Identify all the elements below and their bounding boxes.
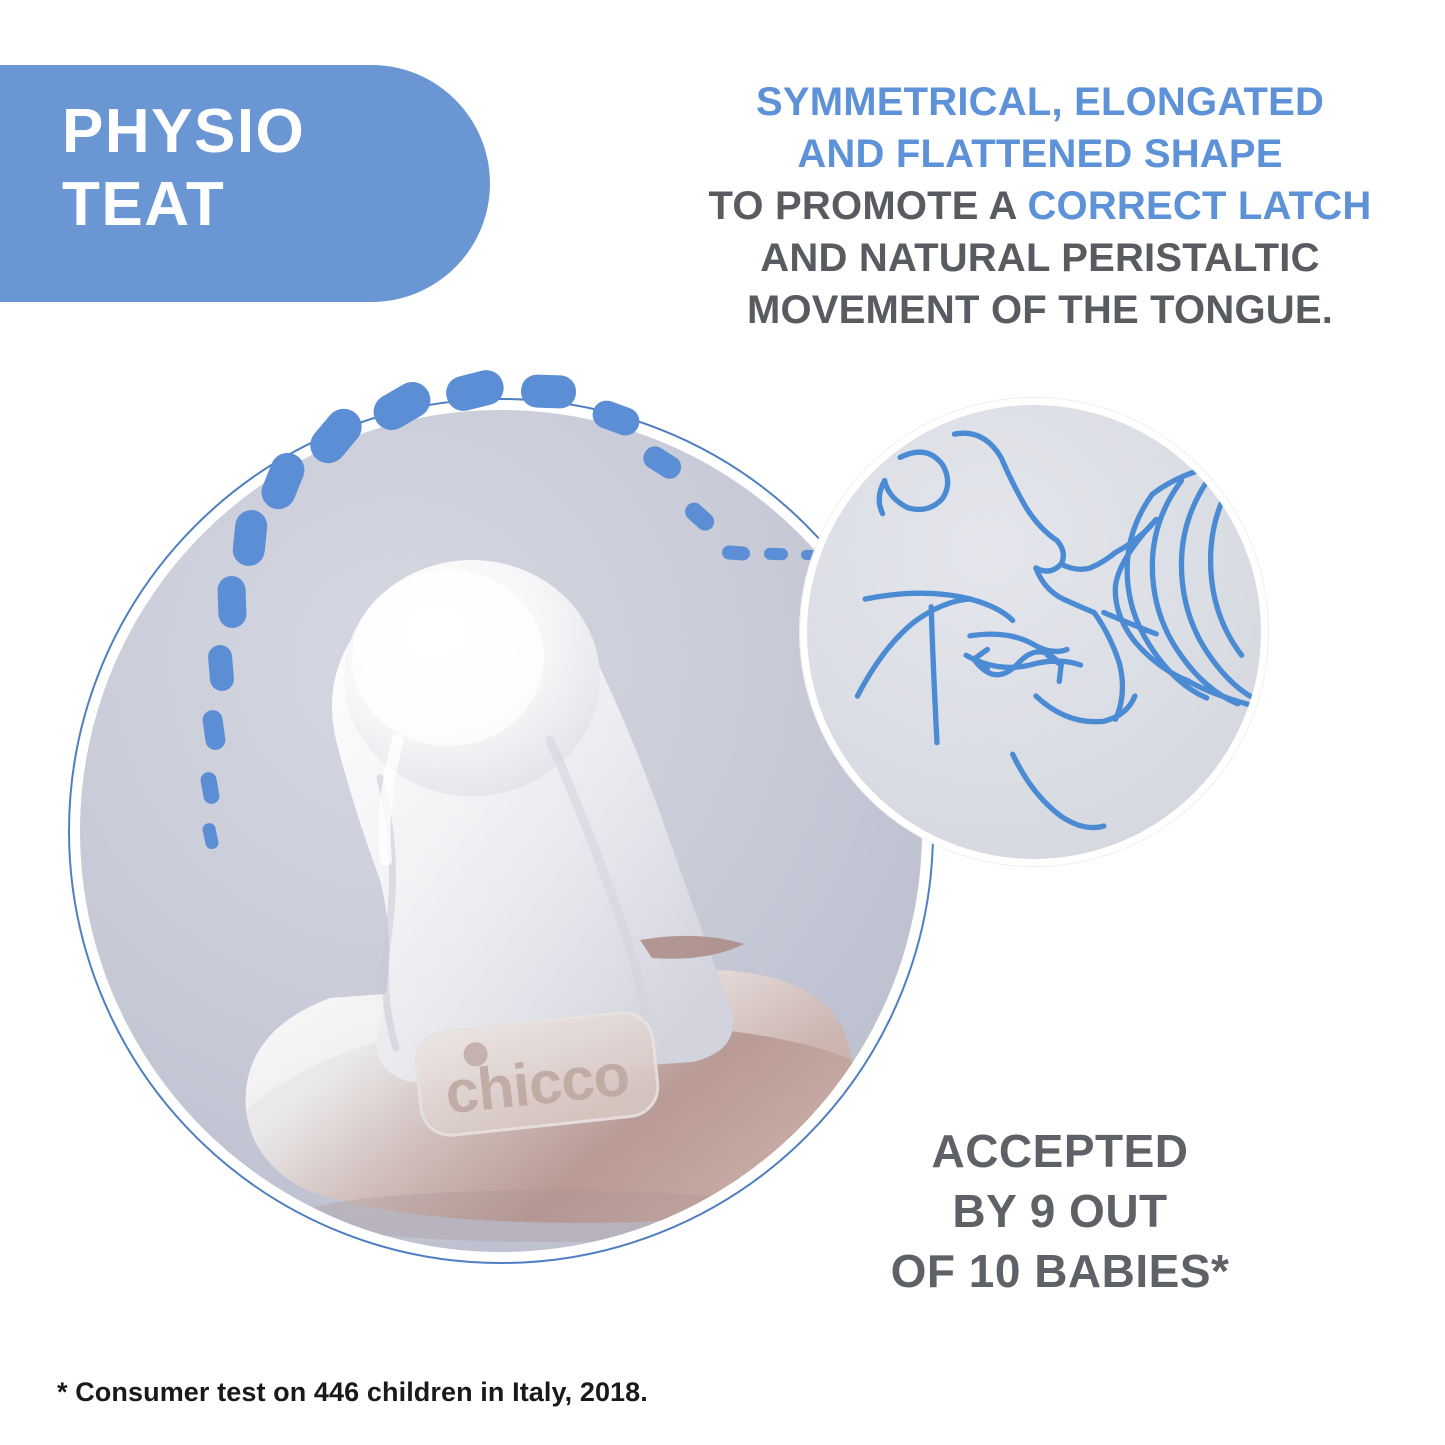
headline-line-3: TO PROMOTE A CORRECT LATCH <box>660 180 1420 232</box>
feeding-illustration-circle <box>800 398 1268 866</box>
headline-line-3-blue: CORRECT LATCH <box>1027 184 1371 228</box>
product-circle-outline <box>68 398 934 1264</box>
acceptance-claim-block: ACCEPTED BY 9 OUT OF 10 BABIES* <box>845 1122 1275 1301</box>
physio-teat-badge: PHYSIO TEAT <box>0 65 490 302</box>
footnote-text: * Consumer test on 446 children in Italy… <box>57 1377 648 1408</box>
claim-line-2: BY 9 OUT <box>845 1182 1275 1242</box>
headline-line-3-gray: TO PROMOTE A <box>709 184 1028 228</box>
baby-latch-line-drawing <box>807 405 1261 859</box>
claim-line-3: OF 10 BABIES* <box>845 1242 1275 1302</box>
claim-line-1: ACCEPTED <box>845 1122 1275 1182</box>
headline-line-4: AND NATURAL PERISTALTIC <box>660 232 1420 284</box>
headline-line-5: MOVEMENT OF THE TONGUE. <box>660 284 1420 336</box>
badge-title-line-2: TEAT <box>62 168 490 241</box>
headline-line-1: SYMMETRICAL, ELONGATED <box>660 76 1420 128</box>
headline-block: SYMMETRICAL, ELONGATED AND FLATTENED SHA… <box>660 76 1420 336</box>
infographic-canvas: PHYSIO TEAT SYMMETRICAL, ELONGATED AND F… <box>0 0 1445 1445</box>
headline-line-2: AND FLATTENED SHAPE <box>660 128 1420 180</box>
badge-title-line-1: PHYSIO <box>62 95 490 168</box>
